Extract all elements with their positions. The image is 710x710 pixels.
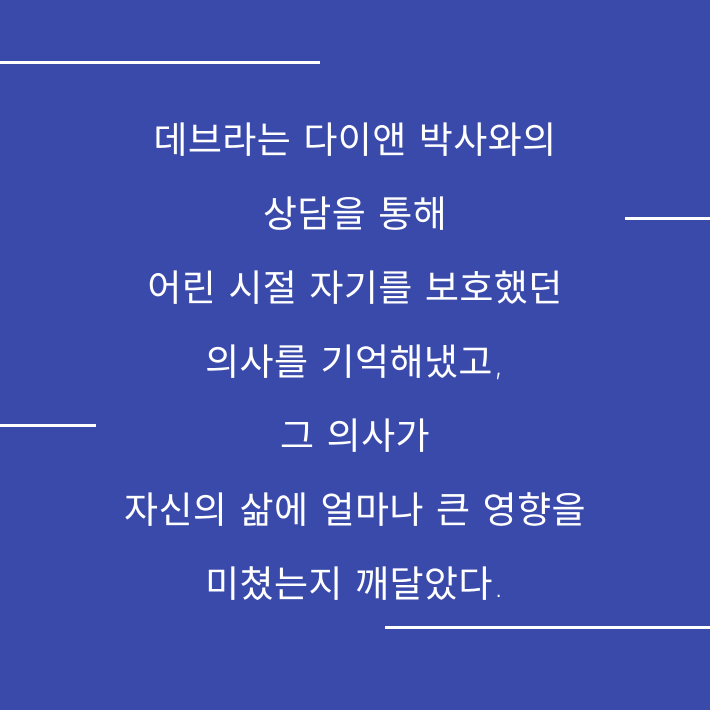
quote-line-7: 미쳤는지 깨달았다. <box>0 548 710 622</box>
quote-line-2: 상담을 통해 <box>0 178 710 252</box>
bottom-right-rule <box>385 626 710 629</box>
quote-line-6: 자신의 삶에 얼마나 큰 영향을 <box>0 474 710 548</box>
quote-line-3: 어린 시절 자기를 보호했던 <box>0 252 710 326</box>
top-left-rule <box>0 61 320 64</box>
quote-text-block: 데브라는 다이앤 박사와의 상담을 통해 어린 시절 자기를 보호했던 의사를 … <box>0 104 710 622</box>
quote-line-4: 의사를 기억해냈고, <box>0 326 710 400</box>
quote-line-1: 데브라는 다이앤 박사와의 <box>0 104 710 178</box>
quote-line-5: 그 의사가 <box>0 400 710 474</box>
quote-card: 데브라는 다이앤 박사와의 상담을 통해 어린 시절 자기를 보호했던 의사를 … <box>0 0 710 710</box>
